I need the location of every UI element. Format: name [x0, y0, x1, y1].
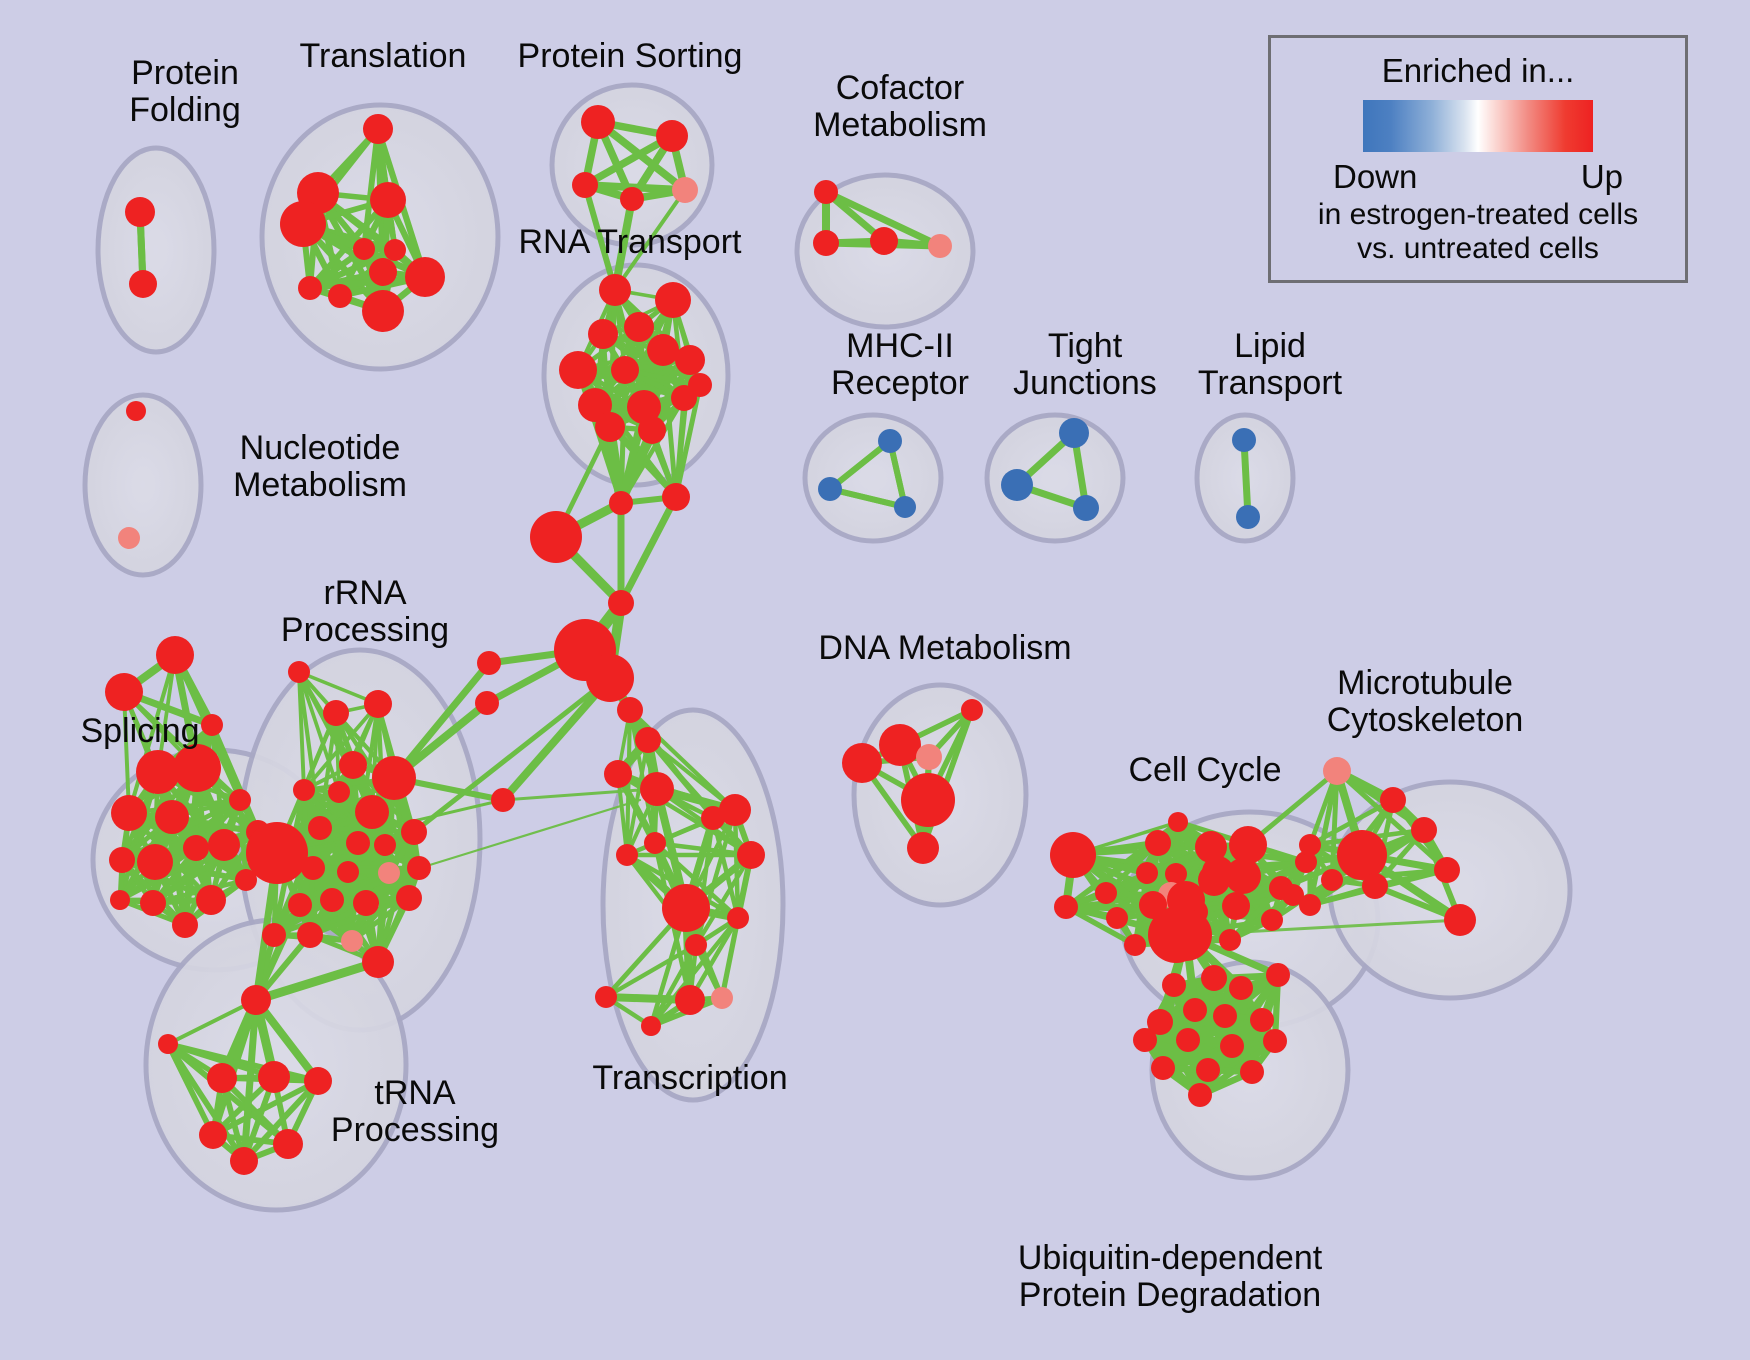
graph-node [916, 744, 942, 770]
graph-node [1229, 826, 1267, 864]
graph-node [1266, 963, 1290, 987]
graph-node [1054, 895, 1078, 919]
graph-node [105, 673, 143, 711]
graph-node [1124, 934, 1146, 956]
graph-node [323, 700, 349, 726]
graph-node [595, 412, 625, 442]
legend-down-label: Down [1333, 158, 1417, 196]
graph-node [328, 781, 350, 803]
graph-node [1444, 904, 1476, 936]
graph-node [662, 483, 690, 511]
graph-node [907, 832, 939, 864]
graph-node [672, 177, 698, 203]
graph-node [1232, 428, 1256, 452]
graph-node [1073, 495, 1099, 521]
graph-node [201, 714, 223, 736]
graph-node [109, 847, 135, 873]
graph-node [1222, 892, 1250, 920]
graph-node [1219, 929, 1241, 951]
graph-edge [503, 678, 610, 800]
graph-node [878, 429, 902, 453]
graph-node [328, 284, 352, 308]
graph-node [608, 590, 634, 616]
graph-node [1168, 812, 1188, 832]
graph-node [1095, 882, 1117, 904]
graph-edge [621, 497, 676, 603]
graph-node [1337, 830, 1387, 880]
graph-node [362, 290, 404, 332]
legend-color-bar [1363, 100, 1593, 152]
graph-node [110, 890, 130, 910]
graph-node [685, 934, 707, 956]
graph-node [586, 654, 634, 702]
graph-node [1225, 858, 1261, 894]
graph-node [140, 890, 166, 916]
graph-node [928, 234, 952, 258]
graph-node [370, 182, 406, 218]
graph-node [641, 1016, 661, 1036]
graph-node [711, 987, 733, 1009]
graph-node [1411, 817, 1437, 843]
graph-node [183, 835, 209, 861]
graph-node [655, 282, 691, 318]
figure-canvas: Protein FoldingTranslationProtein Sortin… [0, 0, 1750, 1360]
graph-node [1050, 832, 1096, 878]
graph-node [304, 1067, 332, 1095]
legend-endpoints: Down Up [1333, 158, 1623, 196]
graph-node [1240, 1060, 1264, 1084]
graph-node [616, 844, 638, 866]
graph-node [129, 270, 157, 298]
graph-node [894, 496, 916, 518]
graph-node [372, 756, 416, 800]
graph-node [301, 856, 325, 880]
graph-node [1362, 873, 1388, 899]
graph-node [879, 724, 921, 766]
graph-node [337, 861, 359, 883]
cluster-ellipse-protein-sorting [552, 85, 712, 245]
graph-node [638, 416, 666, 444]
graph-node [1188, 1083, 1212, 1107]
graph-node [207, 1063, 237, 1093]
graph-node [173, 744, 221, 792]
cluster-ellipse-protein-folding [98, 148, 214, 352]
graph-node [491, 788, 515, 812]
graph-node [477, 651, 501, 675]
graph-node [369, 258, 397, 286]
graph-node [199, 1121, 227, 1149]
graph-node [842, 743, 882, 783]
graph-node [1133, 1028, 1157, 1052]
graph-node [1213, 1004, 1237, 1028]
graph-node [346, 831, 370, 855]
cluster-ellipse-nucleotide-metabolism [85, 395, 201, 575]
graph-node [475, 691, 499, 715]
graph-node [647, 334, 679, 366]
graph-node [1299, 894, 1321, 916]
graph-node [604, 760, 632, 788]
graph-node [1106, 907, 1128, 929]
graph-node [1263, 1029, 1287, 1053]
graph-node [719, 794, 751, 826]
graph-node [1299, 834, 1321, 856]
graph-node [901, 773, 955, 827]
graph-node [1380, 787, 1406, 813]
graph-node [813, 230, 839, 256]
graph-node [339, 751, 367, 779]
graph-node [401, 819, 427, 845]
graph-node [241, 985, 271, 1015]
graph-node [246, 822, 308, 884]
graph-node [364, 690, 392, 718]
graph-node [156, 636, 194, 674]
graph-node [617, 697, 643, 723]
graph-node [258, 1061, 290, 1093]
graph-node [341, 930, 363, 952]
graph-node [635, 727, 661, 753]
graph-node [362, 946, 394, 978]
graph-node [308, 816, 332, 840]
graph-node [1434, 857, 1460, 883]
graph-node [675, 985, 705, 1015]
graph-node [1250, 1008, 1274, 1032]
graph-node [1136, 862, 1158, 884]
graph-node [405, 257, 445, 297]
graph-node [530, 511, 582, 563]
graph-node [196, 885, 226, 915]
graph-node [208, 829, 240, 861]
graph-node [229, 789, 251, 811]
graph-node [288, 661, 310, 683]
legend-subtitle: in estrogen-treated cells vs. untreated … [1318, 198, 1638, 265]
graph-node [353, 890, 379, 916]
graph-node [581, 105, 615, 139]
graph-node [1198, 864, 1230, 896]
graph-node [644, 832, 666, 854]
graph-node [870, 227, 898, 255]
graph-node [599, 274, 631, 306]
graph-node [355, 795, 389, 829]
graph-node [118, 527, 140, 549]
graph-node [280, 201, 326, 247]
graph-node [1162, 973, 1186, 997]
graph-node [1145, 830, 1171, 856]
graph-node [1151, 1056, 1175, 1080]
graph-node [961, 699, 983, 721]
graph-node [656, 120, 688, 152]
graph-node [675, 345, 705, 375]
graph-node [125, 197, 155, 227]
graph-node [137, 844, 173, 880]
graph-node [396, 885, 422, 911]
graph-node [111, 795, 147, 831]
legend-panel: Enriched in... Down Up in estrogen-treat… [1268, 35, 1688, 283]
graph-node [662, 884, 710, 932]
graph-node [588, 319, 618, 349]
graph-node [172, 912, 198, 938]
graph-node [273, 1129, 303, 1159]
graph-node [1160, 909, 1212, 961]
legend-up-label: Up [1581, 158, 1623, 196]
graph-node [1001, 469, 1033, 501]
graph-node [1201, 965, 1227, 991]
graph-node [1176, 1028, 1200, 1052]
graph-node [320, 888, 344, 912]
graph-node [818, 477, 842, 501]
graph-node [158, 1034, 178, 1054]
graph-node [407, 856, 431, 880]
legend-title: Enriched in... [1382, 52, 1575, 90]
graph-node [1059, 418, 1089, 448]
graph-node [374, 834, 396, 856]
graph-node [727, 907, 749, 929]
graph-node [1321, 869, 1343, 891]
graph-node [595, 986, 617, 1008]
graph-node [288, 893, 312, 917]
graph-node [298, 276, 322, 300]
graph-node [126, 401, 146, 421]
graph-node [1229, 976, 1253, 1000]
graph-node [384, 239, 406, 261]
graph-node [814, 180, 838, 204]
graph-node [624, 312, 654, 342]
graph-node [1220, 1034, 1244, 1058]
graph-node [363, 114, 393, 144]
graph-node [671, 385, 697, 411]
graph-node [1261, 909, 1283, 931]
graph-node [378, 862, 400, 884]
graph-node [609, 491, 633, 515]
graph-node [353, 238, 375, 260]
graph-node [1183, 998, 1207, 1022]
graph-node [559, 351, 597, 389]
graph-node [297, 922, 323, 948]
graph-node [611, 356, 639, 384]
graph-node [1236, 505, 1260, 529]
graph-node [230, 1147, 258, 1175]
graph-node [640, 772, 674, 806]
graph-node [155, 800, 189, 834]
graph-node [293, 779, 315, 801]
graph-node [1323, 757, 1351, 785]
graph-node [737, 841, 765, 869]
graph-node [262, 923, 286, 947]
graph-node [620, 187, 644, 211]
graph-node [1196, 1058, 1220, 1082]
graph-node [572, 172, 598, 198]
